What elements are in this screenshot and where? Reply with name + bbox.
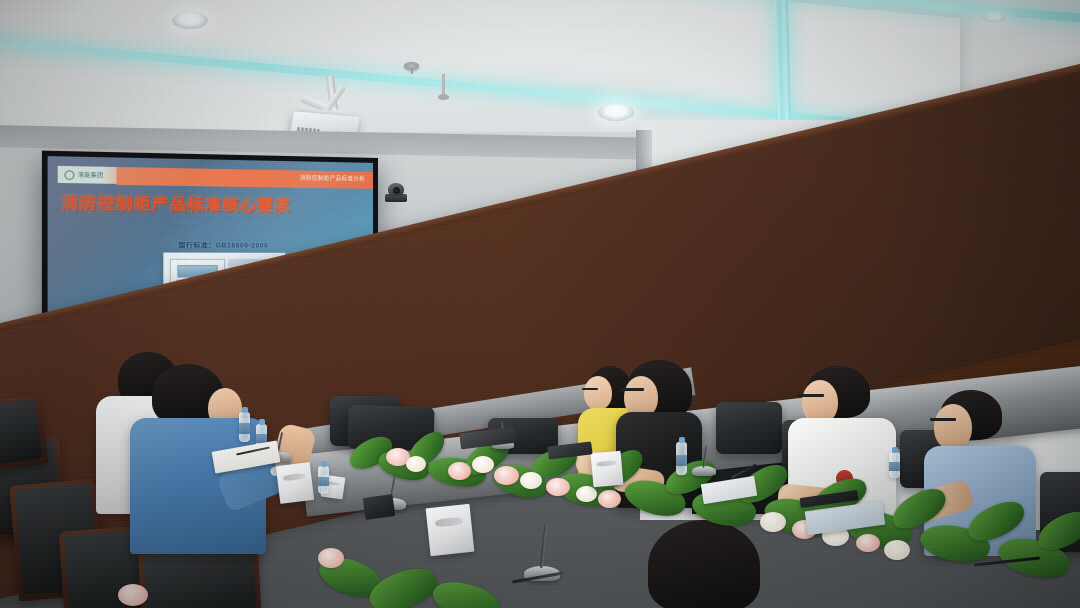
tissue-box: [426, 504, 475, 556]
slide-topbar-label: 消防控制柜产品标准分析: [300, 174, 365, 183]
sprinkler-head: [404, 62, 419, 70]
water-bottle: [239, 412, 250, 442]
company-logo-icon: [64, 170, 74, 180]
slide-topbar: 消防控制柜产品标准分析: [117, 167, 373, 189]
ceiling-downlight: [172, 12, 208, 29]
slide-title: 消防控制柜产品标准核心要求: [61, 190, 291, 216]
camera-lens-icon: [393, 187, 400, 194]
device: [363, 494, 396, 520]
ceiling-downlight: [598, 104, 634, 121]
water-bottle: [318, 466, 329, 494]
water-bottle: [676, 442, 687, 475]
slide-standard-code: 国行标准：GB16806-2006: [178, 239, 268, 250]
water-bottle: [889, 452, 900, 478]
chair[interactable]: [138, 545, 262, 608]
slide-logo-text: 清能集团: [78, 170, 104, 179]
ceiling-downlight: [982, 12, 1006, 22]
tissue-box: [591, 451, 624, 487]
conference-room-photo: 清能集团 消防控制柜产品标准分析 消防控制柜产品标准核心要求 国行标准：GB16…: [0, 0, 1080, 608]
microphone-gooseneck: [540, 526, 547, 568]
ceiling-hanger: [442, 74, 445, 96]
tissue-box: [276, 462, 314, 504]
chair[interactable]: [716, 402, 782, 454]
ptz-conference-camera: [383, 181, 409, 203]
